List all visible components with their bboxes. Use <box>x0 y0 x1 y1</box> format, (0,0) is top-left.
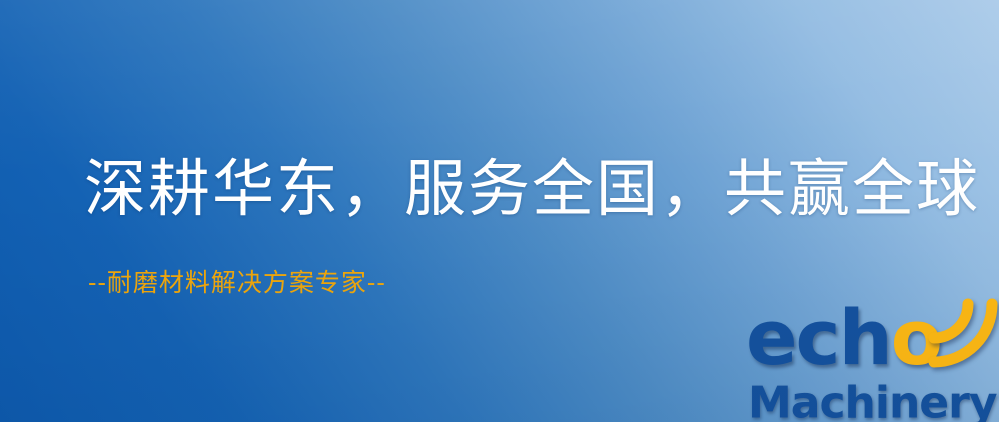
logo-wordmark-prefix: ech <box>746 293 891 382</box>
banner-subheadline: --耐磨材料解决方案专家-- <box>88 266 386 300</box>
logo-wordmark: echo <box>746 300 941 376</box>
logo-subtext-label: Machinery <box>748 378 997 422</box>
banner-headline: 深耕华东，服务全国，共赢全球 <box>84 152 980 226</box>
hero-banner: 深耕华东，服务全国，共赢全球 --耐磨材料解决方案专家-- echo Machi… <box>0 0 999 422</box>
echo-machinery-logo: echo Machinery® <box>744 300 996 420</box>
signal-waves-icon <box>926 296 999 370</box>
logo-subtext: Machinery® <box>748 374 999 422</box>
